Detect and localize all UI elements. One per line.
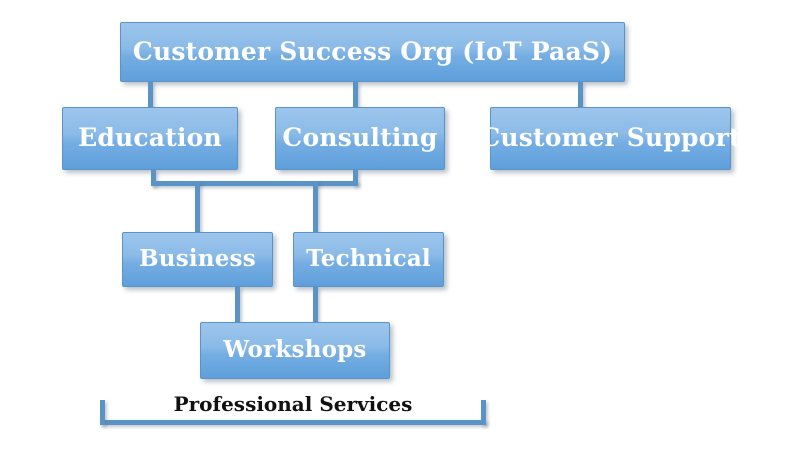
connector-root-to-customer-support (578, 82, 583, 108)
node-consulting[interactable]: Consulting (275, 107, 445, 170)
node-technical[interactable]: Technical (293, 232, 444, 287)
node-education-label: Education (78, 125, 222, 151)
node-customer-support[interactable]: Customer Support (490, 107, 731, 170)
grouping-bracket-right-arm (481, 400, 486, 425)
node-education[interactable]: Education (62, 107, 238, 170)
connector-bracket-to-business (195, 181, 200, 233)
node-workshops-label: Workshops (223, 338, 366, 362)
grouping-bracket-left-arm (100, 400, 105, 425)
node-consulting-label: Consulting (282, 125, 437, 151)
node-customer-support-label: Customer Support (480, 125, 740, 151)
connector-bracket-to-technical (313, 181, 318, 233)
node-business[interactable]: Business (122, 232, 273, 287)
connector-technical-to-workshops (313, 287, 318, 324)
bracket-horizontal-bar (151, 181, 358, 186)
node-root-label: Customer Success Org (IoT PaaS) (133, 39, 612, 65)
node-root-customer-success-org[interactable]: Customer Success Org (IoT PaaS) (120, 22, 625, 82)
org-chart-diagram: Customer Success Org (IoT PaaS) Educatio… (0, 0, 804, 452)
connector-root-to-consulting (353, 82, 358, 108)
node-business-label: Business (139, 247, 256, 271)
connector-root-to-education (148, 82, 153, 108)
connector-business-to-workshops (235, 287, 240, 324)
label-professional-services: Professional Services (100, 392, 486, 416)
node-workshops[interactable]: Workshops (200, 322, 390, 379)
node-technical-label: Technical (306, 247, 431, 271)
grouping-bracket-bottom-bar (100, 420, 486, 425)
